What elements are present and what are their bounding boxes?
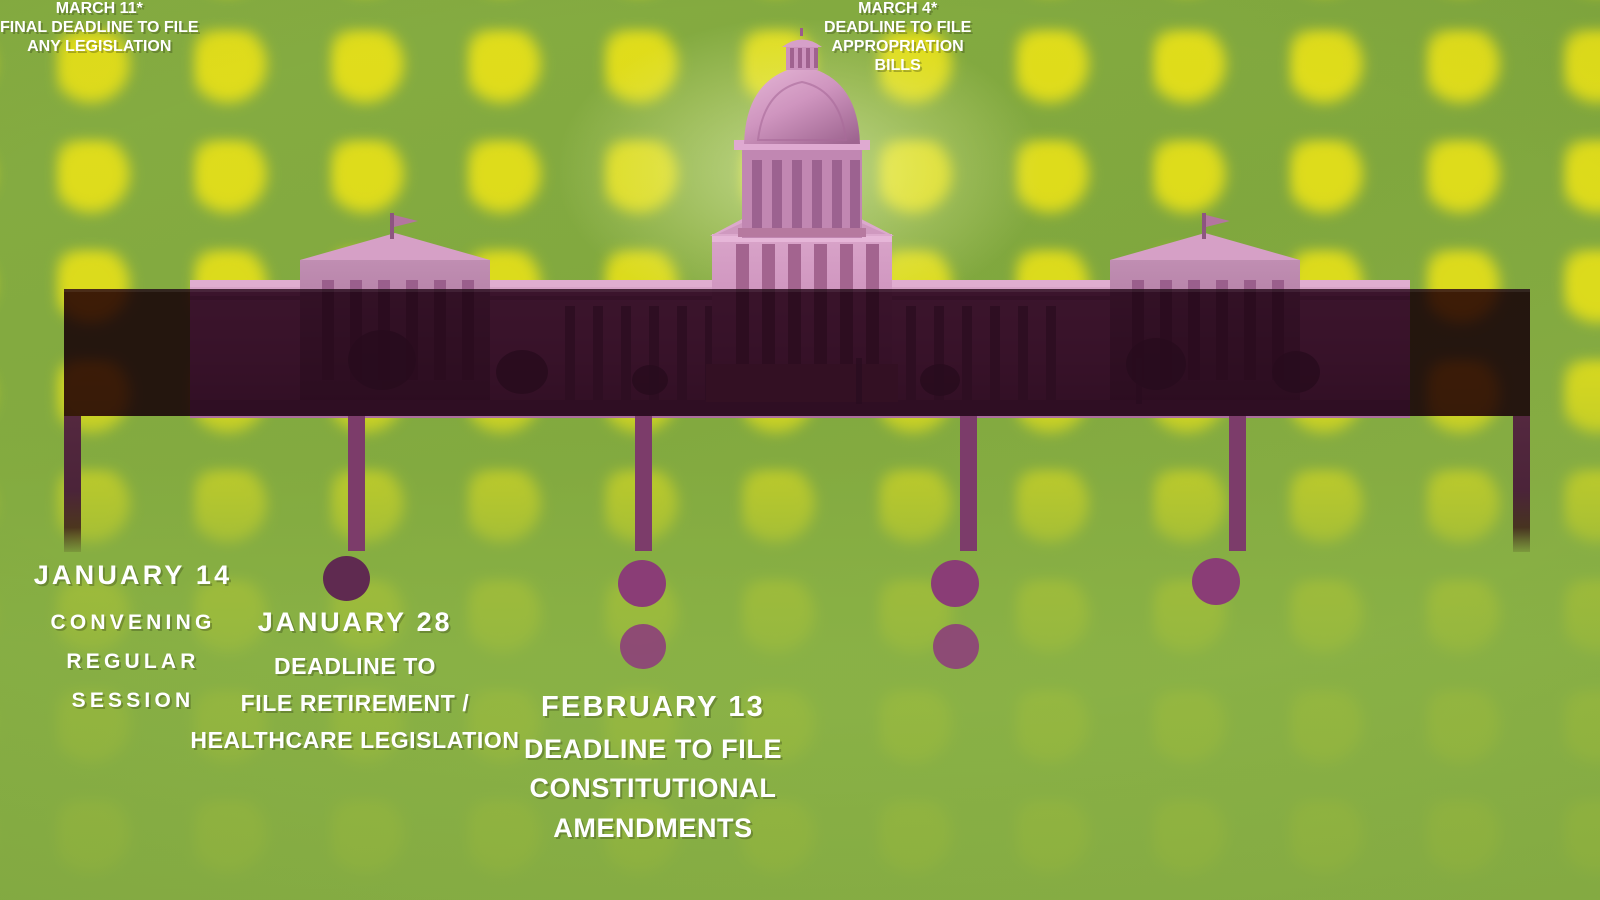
desc-line: ANY LEGISLATION [0,38,199,57]
timeline-stem-mar4 [960,416,977,551]
marker-feb13-secondary [620,624,666,669]
marker-mar4-secondary [933,624,979,669]
milestone-date-feb13: FEBRUARY 13 [488,690,818,724]
desc-line: AMENDMENTS [488,809,818,848]
milestone-label-jan28: JANUARY 28 DEADLINE TO FILE RETIREMENT /… [190,607,520,760]
milestone-desc-feb13: DEADLINE TO FILE CONSTITUTIONAL AMENDMEN… [488,730,818,847]
milestone-date-mar11: MARCH 11* [0,0,199,19]
timeline-stem-jan28 [348,416,365,551]
marker-feb13-primary [618,560,666,607]
timeline-stem-feb13 [635,416,652,551]
timeline-bar [64,289,1530,416]
milestone-label-mar11: MARCH 11* FINAL DEADLINE TO FILE ANY LEG… [0,0,199,57]
desc-line: DEADLINE TO FILE [488,730,818,769]
desc-line: DEADLINE TO [190,648,520,685]
milestone-date-mar4: MARCH 4* [824,0,971,19]
milestone-date-jan14: JANUARY 14 [0,560,266,592]
milestone-desc-jan28: DEADLINE TO FILE RETIREMENT / HEALTHCARE… [190,648,520,760]
desc-line: CONSTITUTIONAL [488,769,818,808]
marker-mar11 [1192,558,1240,605]
desc-line: APPROPRIATION [824,38,971,57]
timeline-stem-start [64,416,81,552]
marker-mar4-primary [931,560,979,607]
milestone-desc-mar11: FINAL DEADLINE TO FILE ANY LEGISLATION [0,19,199,57]
desc-line: DEADLINE TO FILE [824,19,971,38]
timeline-stem-end [1513,416,1530,552]
desc-line: FINAL DEADLINE TO FILE [0,19,199,38]
marker-jan28 [323,556,370,601]
milestone-label-feb13: FEBRUARY 13 DEADLINE TO FILE CONSTITUTIO… [488,690,818,848]
milestone-label-mar4: MARCH 4* DEADLINE TO FILE APPROPRIATION … [824,0,971,76]
milestone-date-jan28: JANUARY 28 [190,607,520,639]
timeline-bar-highlight [64,289,1530,292]
poster-canvas: JANUARY 14 CONVENING REGULAR SESSION JAN… [0,0,1600,900]
timeline-stem-mar11 [1229,416,1246,551]
desc-line: FILE RETIREMENT / [190,685,520,722]
milestone-desc-mar4: DEADLINE TO FILE APPROPRIATION BILLS [824,19,971,76]
desc-line: BILLS [824,57,971,76]
desc-line: HEALTHCARE LEGISLATION [190,722,520,759]
